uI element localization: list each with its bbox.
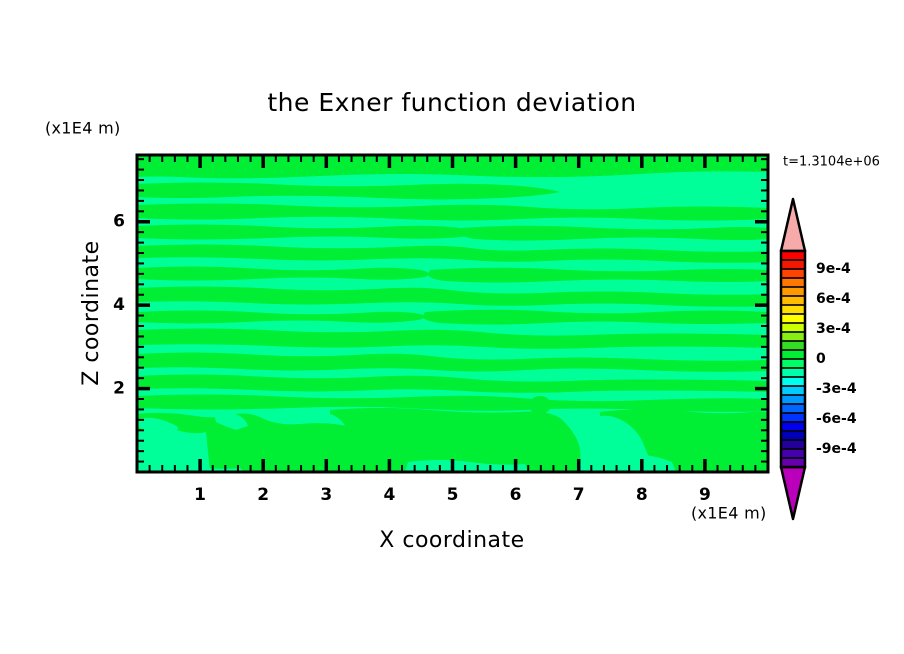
colorbar-band xyxy=(781,368,805,377)
figure-title: the Exner function deviation xyxy=(267,88,636,117)
x-axis-tick-label: 4 xyxy=(383,485,395,505)
x-axis-title: X coordinate xyxy=(379,528,524,553)
contour-figure: the Exner function deviation (x1E4 m) xyxy=(0,0,904,654)
colorbar-tick-label: 9e-4 xyxy=(816,261,851,277)
x-axis-tick-label: 2 xyxy=(257,485,269,505)
colorbar-band xyxy=(781,359,805,368)
colorbar-band xyxy=(781,296,805,305)
x-axis-tick-label: 8 xyxy=(636,485,648,505)
y-axis-tick-label: 4 xyxy=(113,295,125,315)
colorbar-band xyxy=(781,305,805,314)
x-axis-tick-label: 9 xyxy=(699,485,711,505)
colorbar-tick-label: 0 xyxy=(816,351,826,367)
colorbar-band xyxy=(781,377,805,386)
colorbar-band xyxy=(781,404,805,413)
y-axis-tick-label: 6 xyxy=(113,212,125,232)
colorbar-band xyxy=(781,431,805,440)
colorbar-bands xyxy=(781,251,805,467)
colorbar-band xyxy=(781,341,805,350)
timestamp-label: t=1.3104e+06 xyxy=(783,155,880,170)
colorbar-band xyxy=(781,269,805,278)
x-axis-tick-label: 3 xyxy=(320,485,332,505)
colorbar-tick-label: -9e-4 xyxy=(816,441,857,457)
colorbar-tick-label: 6e-4 xyxy=(816,291,851,307)
colorbar-band xyxy=(781,449,805,458)
x-axis-tick-label: 1 xyxy=(194,485,206,505)
colorbar-band xyxy=(781,422,805,431)
plot-area xyxy=(137,155,768,472)
colorbar-band xyxy=(781,395,805,404)
x-axis-tick-label: 6 xyxy=(510,485,522,505)
colorbar-band xyxy=(781,323,805,332)
colorbar-band xyxy=(781,251,805,260)
colorbar-tick-label: 3e-4 xyxy=(816,321,851,337)
colorbar-band xyxy=(781,332,805,341)
figure-root: the Exner function deviation (x1E4 m) xyxy=(0,0,904,654)
colorbar-band xyxy=(781,260,805,269)
y-axis-tick-label: 2 xyxy=(113,379,125,399)
x-axis-unit-label: (x1E4 m) xyxy=(691,504,767,523)
isolated-island xyxy=(529,396,551,414)
colorbar-band xyxy=(781,440,805,449)
colorbar-band xyxy=(781,386,805,395)
colorbar-band xyxy=(781,314,805,323)
colorbar-tick-label: -3e-4 xyxy=(816,381,857,397)
colorbar-band xyxy=(781,287,805,296)
y-axis-unit-label: (x1E4 m) xyxy=(45,119,121,138)
colorbar-band xyxy=(781,350,805,359)
x-axis-tick-label: 7 xyxy=(573,485,585,505)
colorbar-band xyxy=(781,278,805,287)
colorbar-band xyxy=(781,413,805,422)
y-axis-title: Z coordinate xyxy=(79,240,104,385)
colorbar-tick-label: -6e-4 xyxy=(816,411,857,427)
x-axis-tick-label: 5 xyxy=(447,485,459,505)
